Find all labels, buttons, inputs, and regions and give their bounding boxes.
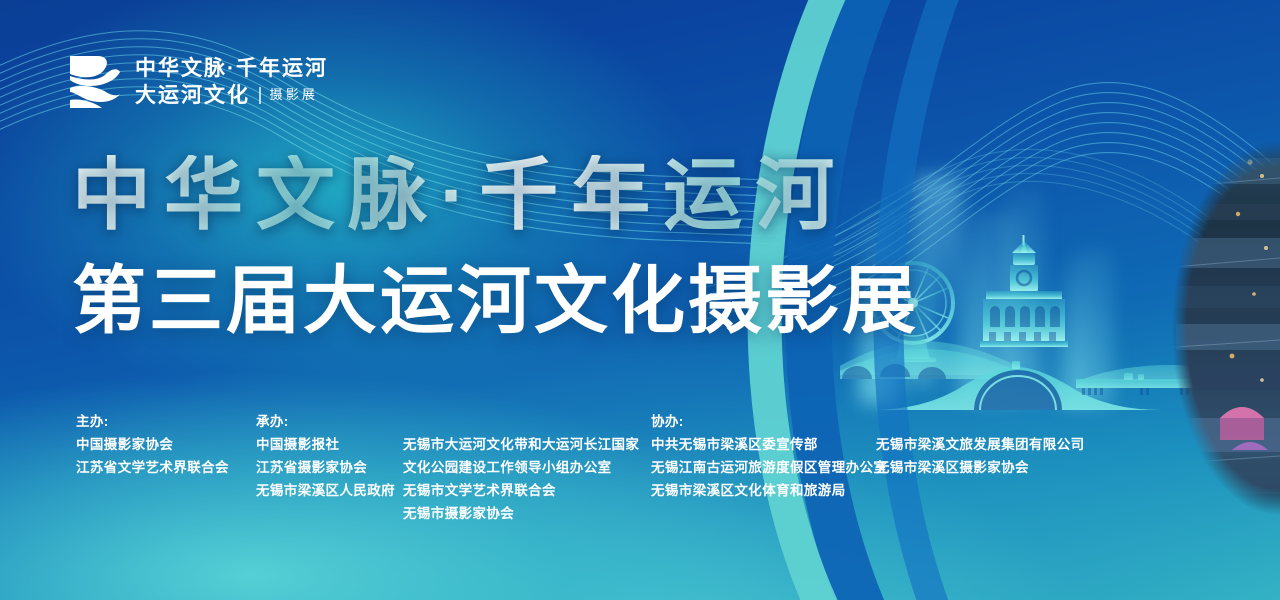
credits-column: 主办:中国摄影家协会江苏省文学艺术界联合会 [76, 410, 256, 479]
light-shaft [1055, 255, 1085, 405]
photo-sliver [1162, 118, 1280, 538]
credits-heading: 主办: [76, 410, 256, 433]
credits-item: 文化公园建设工作领导小组办公室 [403, 456, 651, 479]
credits-item: 无锡市梁溪文旅发展集团有限公司 [876, 433, 1106, 456]
credits-item: 江苏省文学艺术界联合会 [76, 456, 256, 479]
credits-item: 无锡市梁溪区摄影家协会 [876, 456, 1106, 479]
credits-item: 中共无锡市梁溪区委宣传部 [651, 433, 876, 456]
canal-wave-ribbon-logo-icon [66, 52, 122, 112]
credits-column: 协办:中共无锡市梁溪区委宣传部无锡江南古运河旅游度假区管理办公室无锡市梁溪区文化… [651, 410, 876, 502]
event-logo: 中华文脉·千年运河 大运河文化 摄影展 [66, 52, 328, 112]
flat-bridge-icon [1076, 365, 1200, 395]
wave-lines-right [830, 40, 1280, 250]
credits-item: 无锡市大运河文化带和大运河长江国家 [403, 433, 651, 456]
arch-bridge-icon [840, 341, 1016, 379]
credits-item: 无锡市梁溪区人民政府 [256, 479, 403, 502]
credits-item: 无锡市文学艺术界联合会 [403, 479, 651, 502]
credits-item: 中国摄影报社 [256, 433, 403, 456]
credits-column: 承办:中国摄影报社江苏省摄影家协会无锡市梁溪区人民政府 [256, 410, 403, 502]
credits-heading-spacer [876, 410, 1106, 433]
light-shaft [955, 205, 981, 400]
credits-item: 无锡市摄影家协会 [403, 502, 651, 525]
light-shaft [915, 175, 961, 325]
logo-sub-text: 摄影展 [270, 88, 319, 102]
credits-heading-spacer [403, 410, 651, 433]
credits-item: 中国摄影家协会 [76, 433, 256, 456]
light-shaft [1005, 190, 1043, 400]
logo-divider [259, 87, 261, 104]
page-subtitle: 第三届大运河文化摄影展 [72, 262, 919, 340]
credits-heading: 协办: [651, 410, 876, 433]
credits-item: 无锡江南古运河旅游度假区管理办公室 [651, 456, 876, 479]
light-shaft [1072, 250, 1112, 405]
credits-column: 无锡市大运河文化带和大运河长江国家文化公园建设工作领导小组办公室无锡市文学艺术界… [403, 410, 651, 525]
arch-bridge-icon [870, 361, 1162, 410]
credits-block: 主办:中国摄影家协会江苏省文学艺术界联合会承办:中国摄影报社江苏省摄影家协会无锡… [76, 410, 1130, 525]
credits-column: 无锡市梁溪文旅发展集团有限公司无锡市梁溪区摄影家协会 [876, 410, 1106, 479]
credits-item: 江苏省摄影家协会 [256, 456, 403, 479]
page-title: 中华文脉·千年运河 [72, 155, 847, 236]
logo-main-text: 大运河文化 [135, 84, 250, 107]
credits-heading: 承办: [256, 410, 403, 433]
poster-canvas: 中华文脉·千年运河 大运河文化 摄影展 中华文脉·千年运河 第三届大运河文化摄影… [0, 0, 1280, 600]
clock-tower-building-icon [980, 235, 1068, 347]
logo-tagline: 中华文脉·千年运河 [135, 57, 328, 80]
light-shaft [973, 212, 1017, 402]
credits-item: 无锡市梁溪区文化体育和旅游局 [651, 479, 876, 502]
